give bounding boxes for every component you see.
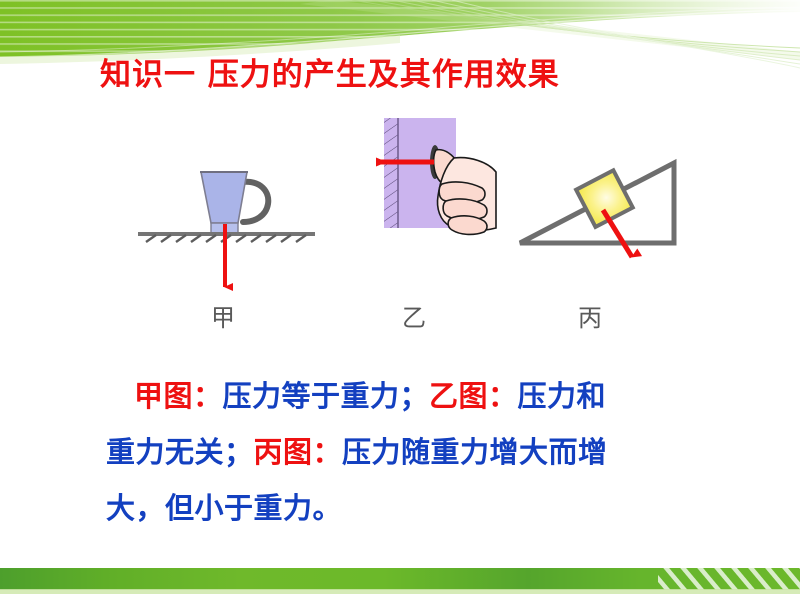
block: [576, 170, 633, 227]
body-line2-red-a: 丙图：: [254, 435, 343, 469]
figure-hand-thumbtack-wall: [370, 110, 500, 270]
body-paragraph: 甲图：压力等于重力；乙图：压力和 重力无关；丙图：压力随重力增大而增 大，但小于…: [106, 368, 726, 536]
body-line-1: 甲图：压力等于重力；乙图：压力和: [106, 368, 726, 424]
caption-bing: 丙: [578, 298, 602, 333]
cup-body: [201, 172, 247, 223]
body-line1-blue-b: 压力和: [518, 379, 607, 413]
body-line1-blue-a: 压力等于重力；: [223, 379, 430, 413]
slide-canvas: 知识一 压力的产生及其作用效果: [0, 0, 800, 600]
cup-handle: [242, 182, 268, 222]
bottom-green-bar: [0, 568, 800, 600]
top-green-band: [0, 0, 800, 60]
body-line-3: 大，但小于重力。: [106, 480, 726, 536]
caption-jia: 甲: [211, 298, 235, 333]
wall-hatching: [384, 118, 398, 228]
caption-yi: 乙: [402, 298, 426, 333]
page-title: 知识一 压力的产生及其作用效果: [100, 56, 560, 95]
figure-block-on-incline: [512, 145, 692, 285]
body-line-2: 重力无关；丙图：压力随重力增大而增: [106, 424, 726, 480]
body-line3-blue-a: 大，但小于重力。: [106, 491, 342, 525]
body-line2-blue-b: 压力随重力增大而增: [342, 435, 608, 469]
body-line2-blue-a: 重力无关；: [106, 435, 254, 469]
body-line1-red-b: 乙图：: [429, 379, 518, 413]
figure-row: [0, 110, 800, 290]
figure-cup-on-table: [130, 150, 330, 310]
body-line1-red-a: 甲图：: [134, 379, 223, 413]
figure-captions: 甲 乙 丙: [0, 298, 800, 332]
